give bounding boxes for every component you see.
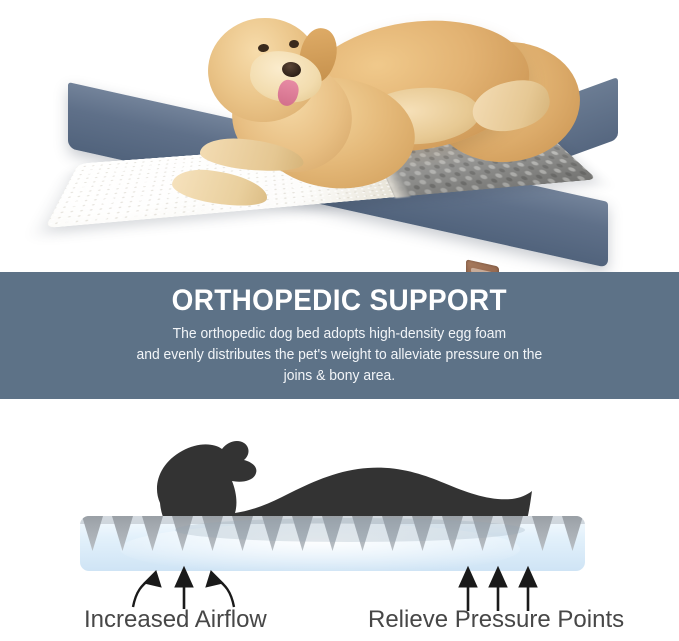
cross-section-diagram: Increased Airflow Relieve Pressure Point… (0, 399, 679, 641)
airflow-arrow-curved-right (206, 571, 234, 607)
diagram-captions: Increased Airflow Relieve Pressure Point… (0, 605, 679, 641)
golden-retriever-photo (0, 0, 679, 272)
dog-front-paw-left (170, 165, 270, 212)
caption-relieve-pressure-points: Relieve Pressure Points (368, 605, 624, 635)
dog-contact-shadow (175, 518, 525, 542)
orthopedic-support-banner: ORTHOPEDIC SUPPORT The orthopedic dog be… (0, 272, 679, 399)
airflow-arrows (133, 567, 234, 609)
airflow-arrow-curved-left (133, 571, 161, 607)
caption-increased-airflow: Increased Airflow (84, 605, 267, 635)
mattress-cross-section (80, 516, 585, 575)
airflow-arrow-straight (175, 567, 193, 609)
banner-description-line-1: The orthopedic dog bed adopts high-densi… (137, 324, 543, 345)
product-photo-panel (0, 0, 679, 272)
banner-headline: ORTHOPEDIC SUPPORT (172, 285, 507, 317)
banner-description: The orthopedic dog bed adopts high-densi… (137, 324, 543, 387)
product-photo-stage (0, 0, 679, 272)
product-feature-graphic: ORTHOPEDIC SUPPORT The orthopedic dog be… (0, 0, 679, 641)
banner-description-line-3: joins & bony area. (137, 366, 543, 387)
banner-description-line-2: and evenly distributes the pet's weight … (137, 345, 543, 366)
